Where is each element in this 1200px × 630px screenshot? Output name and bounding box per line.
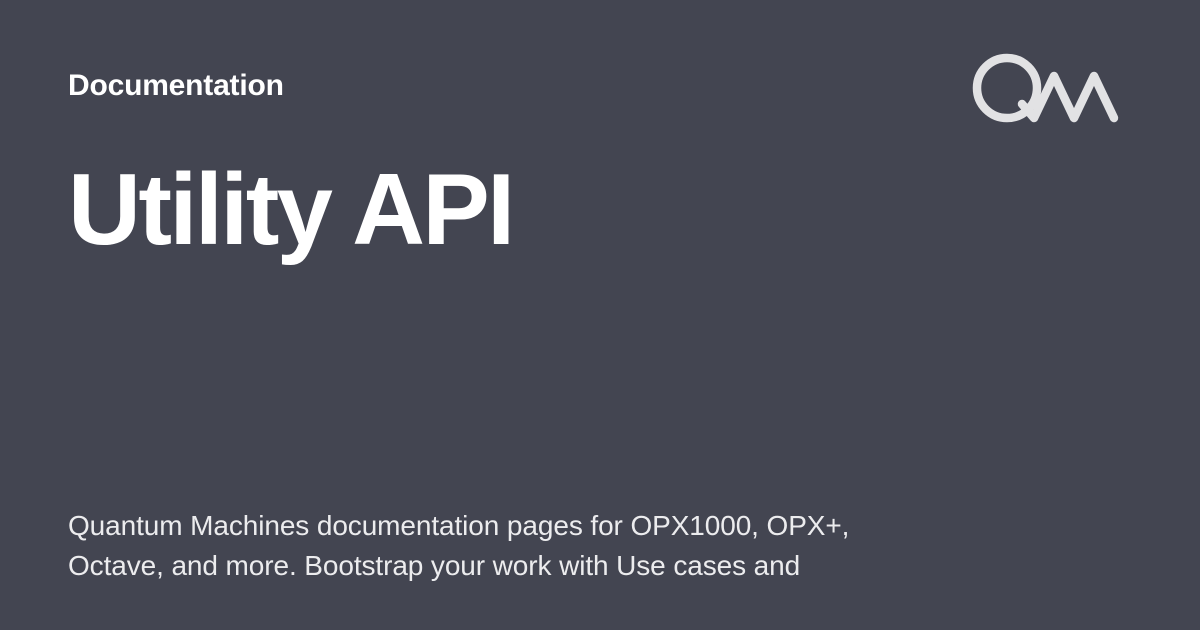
page-title: Utility API [68,152,513,269]
page-description: Quantum Machines documentation pages for… [68,506,878,586]
card-header: Documentation [0,0,1200,160]
qm-logo-icon [972,52,1124,124]
og-card: Documentation Utility API Quantum Machin… [0,0,1200,630]
breadcrumb-documentation: Documentation [68,69,284,102]
